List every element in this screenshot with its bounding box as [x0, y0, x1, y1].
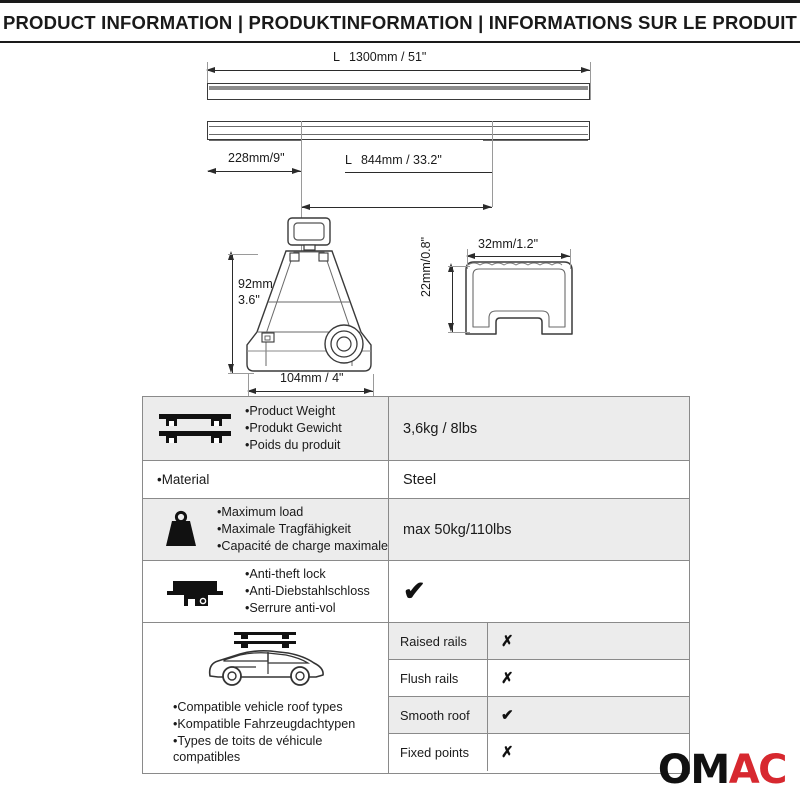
rail-top-view-line-1: [209, 126, 588, 127]
checkmark-icon: ✔: [501, 708, 514, 723]
spec-value-anti-theft: ✔: [389, 561, 689, 622]
roof-types-line: •Types de toits de véhicule: [173, 733, 355, 750]
dim-profile-width-line: [467, 256, 570, 257]
roof-option-name: Fixed points: [389, 734, 488, 771]
spec-label-line: •Anti-Diebstahlschloss: [245, 583, 370, 600]
car-with-roof-rack-icon: [196, 630, 336, 693]
top-border-rule: [0, 0, 800, 3]
spec-label-line: •Serrure anti-vol: [245, 600, 370, 617]
spec-label-line: •Product Weight: [245, 403, 342, 420]
dim-total-length-value: 1300mm / 51": [349, 50, 426, 64]
roof-types-line: •Compatible vehicle roof types: [173, 699, 355, 716]
dim-span-value: 844mm / 33.2": [361, 153, 442, 167]
crossbars-icon: [153, 411, 237, 447]
spec-label-line: •Maximale Tragfähigkeit: [217, 521, 388, 538]
dim-total-length-prefix: L: [333, 50, 340, 64]
dim-span-arrow-left: [301, 204, 310, 210]
spec-label-text: •Maximum load •Maximale Tragfähigkeit •C…: [217, 504, 388, 554]
omac-logo-part2: AC: [729, 747, 786, 793]
dim-total-length-arrow-right: [581, 67, 590, 73]
spec-value-weight: 3,6kg / 8lbs: [389, 397, 689, 460]
roof-option-name: Flush rails: [389, 660, 488, 696]
table-row: •Product Weight •Produkt Gewicht •Poids …: [143, 397, 689, 461]
rail-side-view-shade: [209, 86, 588, 91]
cross-icon: ✗: [501, 671, 514, 686]
roof-option-value: ✗: [488, 660, 689, 696]
roof-option-row: Raised rails ✗: [389, 623, 689, 660]
dim-span-arrow-right: [483, 204, 492, 210]
dim-span: L844mm / 33.2": [345, 153, 442, 167]
dim-foot-height-arrow-up: [228, 251, 234, 260]
spec-label-line: •Poids du produit: [245, 437, 342, 454]
dim-offset-arrow-right: [292, 168, 301, 174]
dim-foot-height-arrow-down: [228, 364, 234, 373]
dim-profile-height-arrow-down: [448, 323, 454, 332]
dim-profile-height-arrow-up: [448, 263, 454, 272]
dim-offset-arrow-left: [207, 168, 216, 174]
rail-cross-section-svg: [460, 256, 590, 351]
dim-span-line: [302, 207, 492, 208]
spec-label-line: •Material: [157, 471, 209, 489]
dim-offset-line: [208, 171, 301, 172]
rail-top-view-foot-right: [483, 140, 588, 141]
spec-label-cell: •Material: [143, 461, 389, 498]
spec-label-cell: •Maximum load •Maximale Tragfähigkeit •C…: [143, 499, 389, 560]
roof-types-label-cell: •Compatible vehicle roof types •Kompatib…: [143, 623, 389, 773]
roof-types-line: compatibles: [173, 749, 355, 766]
dim-profile-width-arrow-right: [561, 253, 570, 259]
specification-table: •Product Weight •Produkt Gewicht •Poids …: [142, 396, 690, 774]
title-divider-rule: [0, 41, 800, 43]
roof-types-line: •Kompatible Fahrzeugdachtypen: [173, 716, 355, 733]
table-row: •Maximum load •Maximale Tragfähigkeit •C…: [143, 499, 689, 561]
ext-line-foot-right: [492, 121, 493, 207]
omac-logo-part1: OM: [658, 747, 729, 793]
checkmark-icon: ✔: [403, 578, 426, 605]
roof-types-text: •Compatible vehicle roof types •Kompatib…: [151, 699, 355, 766]
dim-foot-width-arrow-right: [364, 388, 373, 394]
table-row: •Anti-theft lock •Anti-Diebstahlschloss …: [143, 561, 689, 623]
ext-line-foot-bottom: [228, 373, 254, 374]
rail-top-view-line-2: [209, 134, 588, 135]
table-row: •Compatible vehicle roof types •Kompatib…: [143, 623, 689, 773]
spec-label-line: •Produkt Gewicht: [245, 420, 342, 437]
table-row: •Material Steel: [143, 461, 689, 499]
ext-line-right-1: [590, 62, 591, 100]
weight-icon: [153, 510, 209, 550]
spec-label-cell: •Anti-theft lock •Anti-Diebstahlschloss …: [143, 561, 389, 622]
spec-label-line: •Maximum load: [217, 504, 388, 521]
roof-option-name: Raised rails: [389, 623, 488, 659]
ext-line-profile-w-right: [570, 249, 571, 269]
rail-top-view: [207, 121, 590, 140]
spec-value-max-load: max 50kg/110lbs: [389, 499, 689, 560]
ext-line-foot-w-right: [373, 374, 374, 396]
dim-total-length-line: [207, 70, 590, 71]
rail-top-view-foot-left: [209, 140, 301, 141]
dim-foot-height-mm: 92mm: [238, 276, 273, 292]
roof-option-value: ✔: [488, 697, 689, 733]
dim-foot-height-line: [232, 254, 233, 373]
roof-option-row: Flush rails ✗: [389, 660, 689, 697]
ext-line-profile-h-top: [448, 266, 470, 267]
spec-label-line: •Capacité de charge maximale: [217, 538, 388, 555]
spec-label-text: •Product Weight •Produkt Gewicht •Poids …: [245, 403, 342, 453]
spec-label-text: •Anti-theft lock •Anti-Diebstahlschloss …: [245, 566, 370, 616]
ext-line-foot-top: [228, 254, 258, 255]
dim-profile-height: 22mm/0.8": [419, 237, 433, 297]
cross-icon: ✗: [501, 745, 514, 760]
dim-profile-width: 32mm/1.2": [478, 237, 538, 251]
dim-foot-height-in: 3.6": [238, 292, 273, 308]
ext-line-profile-h-bottom: [448, 332, 470, 333]
dim-foot-height: 92mm 3.6": [238, 276, 273, 309]
roof-option-name: Smooth roof: [389, 697, 488, 733]
cross-icon: ✗: [501, 634, 514, 649]
roof-option-row: Fixed points ✗: [389, 734, 689, 771]
lock-icon: [153, 575, 237, 609]
roof-option-value: ✗: [488, 623, 689, 659]
dim-span-underline: [345, 172, 492, 173]
spec-label-text: •Material: [153, 471, 209, 489]
product-information-sheet: PRODUCT INFORMATION | PRODUKTINFORMATION…: [0, 0, 800, 800]
dim-span-prefix: L: [345, 153, 352, 167]
spec-value-material: Steel: [389, 461, 689, 498]
roof-types-options-table: Raised rails ✗ Flush rails ✗ Smooth roof…: [389, 623, 689, 773]
spec-label-cell: •Product Weight •Produkt Gewicht •Poids …: [143, 397, 389, 460]
dim-offset: 228mm/9": [228, 151, 285, 165]
roof-option-row: Smooth roof ✔: [389, 697, 689, 734]
page-title: PRODUCT INFORMATION | PRODUKTINFORMATION…: [0, 12, 800, 34]
technical-drawing: L1300mm / 51" 228mm/9" L844mm / 33.2": [0, 44, 800, 394]
dim-total-length: L1300mm / 51": [333, 50, 426, 64]
dim-foot-width-line: [248, 391, 373, 392]
ext-line-foot-w-left: [248, 374, 249, 396]
spec-label-line: •Anti-theft lock: [245, 566, 370, 583]
omac-logo: OMAC: [658, 750, 786, 790]
dim-foot-width: 104mm / 4": [280, 371, 344, 385]
